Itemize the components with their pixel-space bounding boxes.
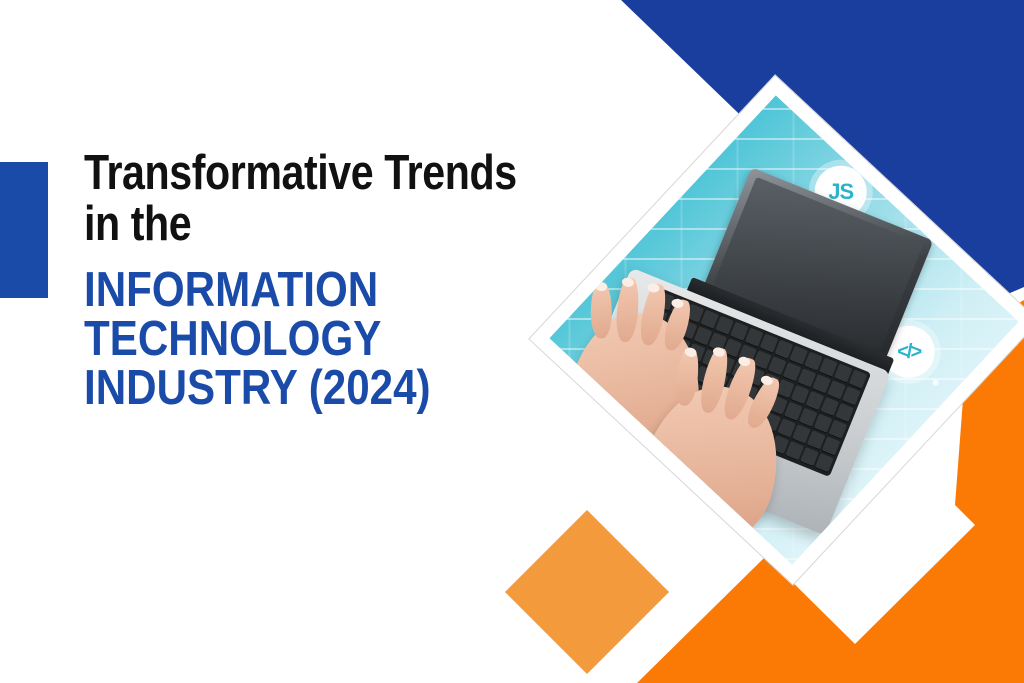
headline-line-5: INDUSTRY (2024) — [84, 364, 488, 413]
banner-root: JS </> — [0, 0, 1024, 683]
headline-line-3: INFORMATION — [84, 266, 488, 315]
headline-line-1: Transformative Trends — [84, 150, 479, 197]
small-orange-diamond — [505, 510, 669, 674]
headline-line-4: TECHNOLOGY — [84, 315, 488, 364]
decor-dot-3 — [933, 380, 939, 386]
headline-block: Transformative Trends in the INFORMATION… — [84, 150, 554, 413]
headline-blue-block: INFORMATION TECHNOLOGY INDUSTRY (2024) — [84, 266, 554, 413]
headline-line-2: in the — [84, 201, 479, 248]
left-blue-bar — [0, 162, 48, 298]
